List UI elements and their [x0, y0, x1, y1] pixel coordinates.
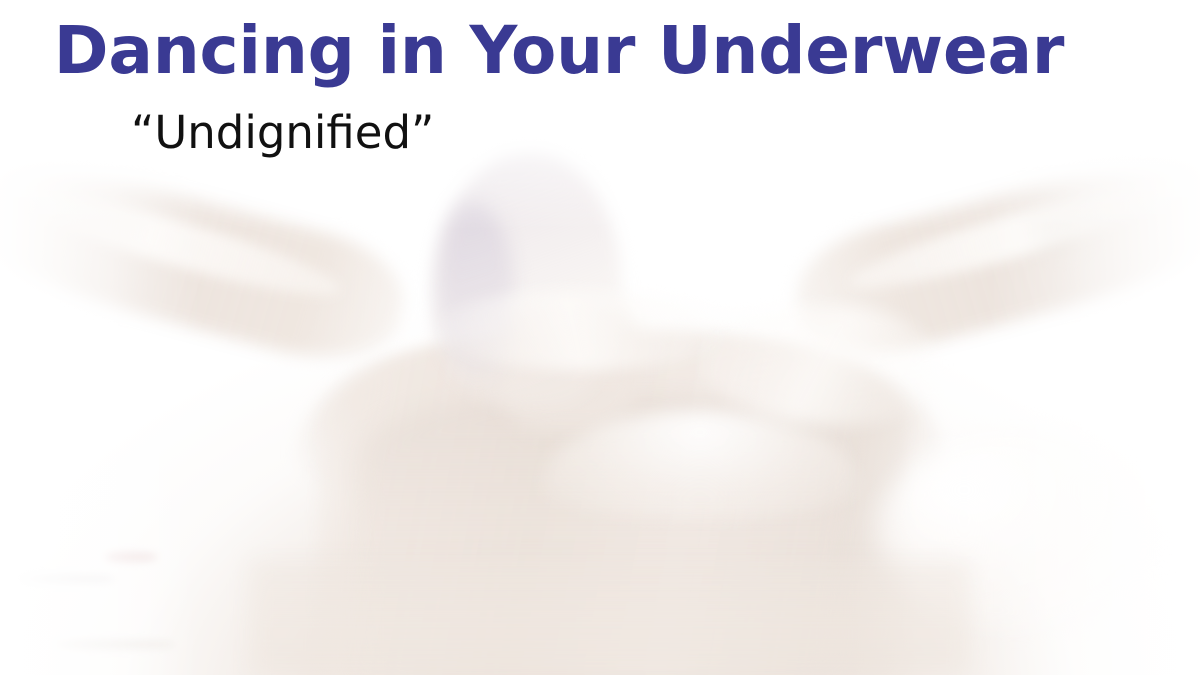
slide-subtitle: “Undignified”	[131, 110, 434, 155]
slide-text-layer: Dancing in Your Underwear “Undignified”	[0, 0, 1200, 675]
slide-title: Dancing in Your Underwear	[0, 18, 1118, 84]
presentation-slide: Dancing in Your Underwear “Undignified”	[0, 0, 1200, 675]
